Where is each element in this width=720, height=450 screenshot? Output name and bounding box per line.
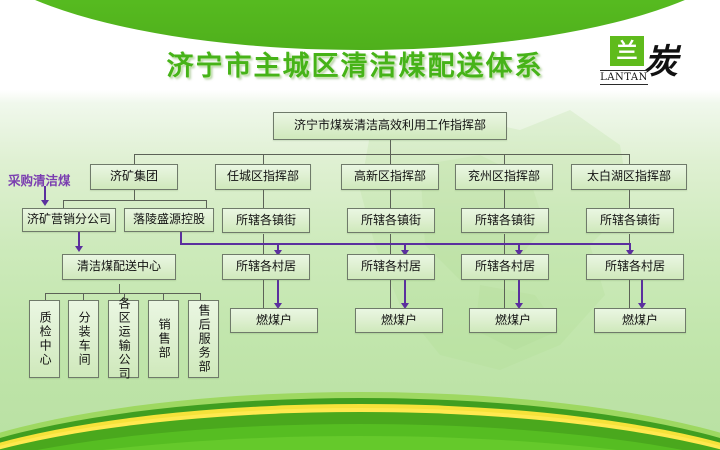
logo-character: 炭	[644, 42, 678, 82]
node-cunju-4[interactable]: 所辖各村居	[586, 254, 684, 280]
node-user-3[interactable]: 燃煤户	[469, 308, 557, 333]
node-zhenjie-3[interactable]: 所辖各镇街	[461, 208, 549, 233]
connector-drop-rencheng	[263, 154, 264, 164]
node-dept-aftersales[interactable]: 售后服务部	[188, 300, 219, 378]
connector-center-bus	[45, 293, 200, 294]
connector-drop-jikuang	[134, 154, 135, 164]
connector-jikuang-bus	[63, 200, 206, 201]
connector-jikuang-stem	[134, 190, 135, 200]
node-dept-transport[interactable]: 各区运输公司	[108, 300, 139, 378]
brand-logo: 兰 炭 LANTAN	[600, 36, 705, 92]
connector-drop-dept4	[163, 293, 164, 300]
node-zhenjie-2[interactable]: 所辖各镇街	[347, 208, 435, 233]
node-cunju-2[interactable]: 所辖各村居	[347, 254, 435, 280]
connector-drop-yanzhou	[504, 154, 505, 164]
connector-cunju2-to-user	[390, 280, 391, 308]
node-user-2[interactable]: 燃煤户	[355, 308, 443, 333]
flow-sales-to-center-arrow-icon	[75, 246, 83, 252]
flow-cunju-to-user-3	[518, 280, 520, 305]
connector-drop-sales	[63, 200, 64, 208]
connector-gaoxin-to-zhenjie	[390, 190, 391, 208]
connector-drop-luoling	[206, 200, 207, 208]
node-yanzhou[interactable]: 兖州区指挥部	[455, 164, 553, 190]
node-luoling[interactable]: 落陵盛源控股	[124, 208, 214, 232]
connector-cunju1-to-user	[263, 280, 264, 308]
connector-drop-gaoxin	[390, 154, 391, 164]
poster-canvas: 济宁市主城区清洁煤配送体系 兰 炭 LANTAN	[0, 0, 720, 450]
node-user-4[interactable]: 燃煤户	[594, 308, 686, 333]
logo-wordmark: LANTAN	[600, 70, 648, 85]
node-user-1[interactable]: 燃煤户	[230, 308, 318, 333]
connector-drop-dept5	[200, 293, 201, 300]
flow-purchase-arrow-icon	[41, 200, 49, 206]
flow-label-purchase: 采购清洁煤	[8, 170, 71, 189]
flow-cunju-to-user-1	[277, 280, 279, 305]
node-zhenjie-1[interactable]: 所辖各镇街	[222, 208, 310, 233]
connector-drop-dept1	[45, 293, 46, 300]
node-center[interactable]: 清洁煤配送中心	[62, 254, 176, 280]
node-root[interactable]: 济宁市煤炭清洁高效利用工作指挥部	[273, 112, 507, 140]
connector-taibaihu-to-zhenjie	[629, 190, 630, 208]
connector-rencheng-to-zhenjie	[263, 190, 264, 208]
node-cunju-1[interactable]: 所辖各村居	[222, 254, 310, 280]
connector-cunju4-to-user	[629, 280, 630, 308]
connector-root-bus	[134, 154, 629, 155]
node-gaoxin[interactable]: 高新区指挥部	[341, 164, 439, 190]
node-dept-sales[interactable]: 销售部	[148, 300, 179, 378]
node-jikuang-sales[interactable]: 济矿营销分公司	[22, 208, 116, 232]
connector-root-stem	[390, 140, 391, 154]
connector-cunju3-to-user	[504, 280, 505, 308]
node-cunju-3[interactable]: 所辖各村居	[461, 254, 549, 280]
node-zhenjie-4[interactable]: 所辖各镇街	[586, 208, 674, 233]
logo-mark-icon: 兰	[610, 36, 644, 66]
flow-cunju-to-user-4	[641, 280, 643, 305]
map-watermark	[330, 95, 660, 395]
node-dept-packaging[interactable]: 分装车间	[68, 300, 99, 378]
page-title: 济宁市主城区清洁煤配送体系	[120, 44, 590, 83]
node-dept-quality[interactable]: 质检中心	[29, 300, 60, 378]
node-taibaihu[interactable]: 太白湖区指挥部	[571, 164, 687, 190]
flow-cunju-to-user-2	[404, 280, 406, 305]
connector-yanzhou-to-zhenjie	[504, 190, 505, 208]
connector-drop-dept2	[83, 293, 84, 300]
node-jikuang-group[interactable]: 济矿集团	[90, 164, 178, 190]
connector-drop-taibaihu	[629, 154, 630, 164]
connector-center-stem	[119, 284, 120, 293]
node-rencheng[interactable]: 任城区指挥部	[215, 164, 311, 190]
